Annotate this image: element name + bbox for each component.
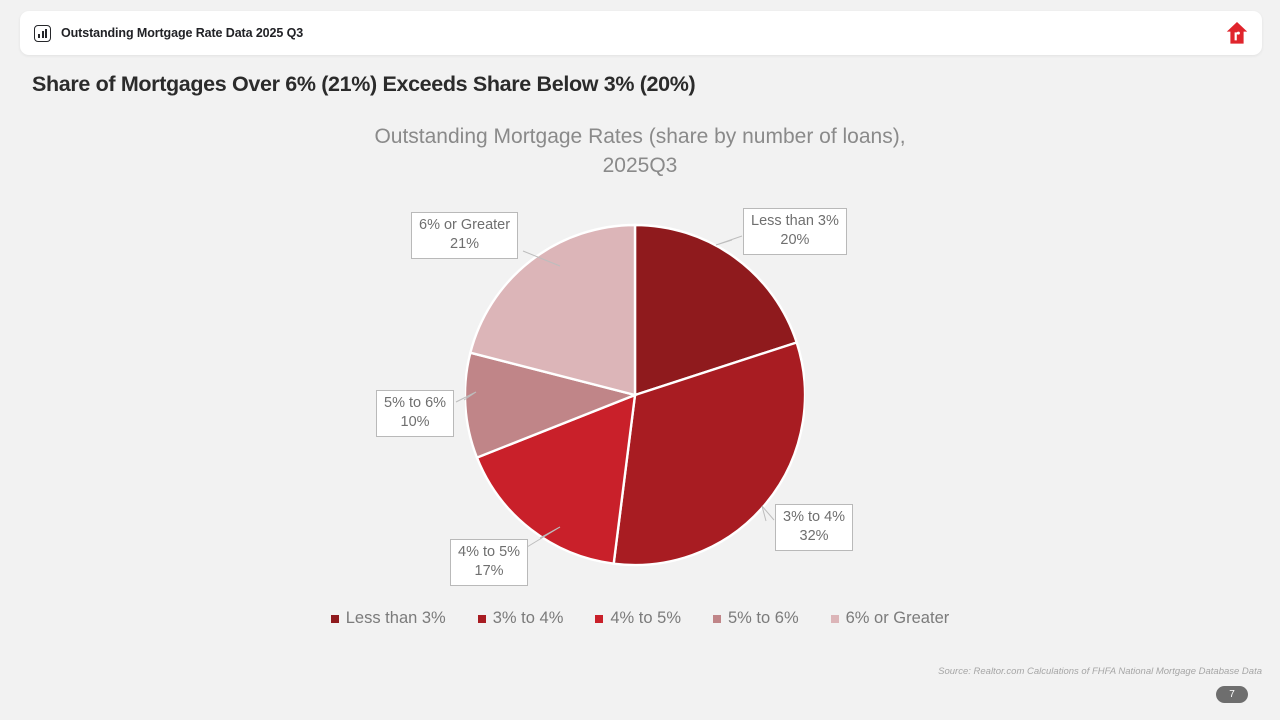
legend-swatch	[331, 615, 339, 623]
source-note: Source: Realtor.com Calculations of FHFA…	[938, 666, 1262, 677]
pie-label-value: 17%	[458, 562, 520, 581]
legend-label: 5% to 6%	[728, 609, 799, 628]
pie-chart	[465, 222, 805, 568]
legend-swatch	[713, 615, 721, 623]
legend-swatch	[478, 615, 486, 623]
pie-label-less-than-3: Less than 3% 20%	[743, 208, 847, 255]
header-brand	[1226, 21, 1248, 45]
chart-title-line-1: Outstanding Mortgage Rates (share by num…	[374, 125, 905, 148]
realtor-house-logo-icon	[1226, 21, 1248, 45]
pie-label-3-to-4: 3% to 4% 32%	[775, 504, 853, 551]
pie-label-value: 20%	[751, 231, 839, 250]
pie-label-4-to-5: 4% to 5% 17%	[450, 539, 528, 586]
legend-label: Less than 3%	[346, 609, 446, 628]
header-title-group: Outstanding Mortgage Rate Data 2025 Q3	[34, 25, 303, 42]
legend-item[interactable]: Less than 3%	[331, 609, 446, 628]
legend-item[interactable]: 4% to 5%	[595, 609, 681, 628]
legend-label: 3% to 4%	[493, 609, 564, 628]
pie-label-category: 3% to 4%	[783, 509, 845, 525]
legend-item[interactable]: 6% or Greater	[831, 609, 950, 628]
pie-label-6-or-greater: 6% or Greater 21%	[411, 212, 518, 259]
pie-label-value: 10%	[384, 413, 446, 432]
legend-swatch	[831, 615, 839, 623]
chart-title-line-2: 2025Q3	[603, 154, 678, 177]
legend-label: 6% or Greater	[846, 609, 950, 628]
app-header-bar: Outstanding Mortgage Rate Data 2025 Q3	[20, 11, 1262, 55]
pie-chart-svg	[465, 222, 805, 568]
chart-title: Outstanding Mortgage Rates (share by num…	[290, 122, 990, 180]
pie-label-5-to-6: 5% to 6% 10%	[376, 390, 454, 437]
pie-label-category: 4% to 5%	[458, 544, 520, 560]
app-title: Outstanding Mortgage Rate Data 2025 Q3	[61, 26, 303, 40]
legend-swatch	[595, 615, 603, 623]
legend-item[interactable]: 3% to 4%	[478, 609, 564, 628]
pie-label-value: 21%	[419, 235, 510, 254]
pie-label-category: Less than 3%	[751, 213, 839, 229]
slide-canvas: Outstanding Mortgage Rate Data 2025 Q3 S…	[0, 0, 1280, 720]
bar-chart-icon	[34, 25, 51, 42]
pie-label-category: 5% to 6%	[384, 395, 446, 411]
legend-label: 4% to 5%	[610, 609, 681, 628]
legend-item[interactable]: 5% to 6%	[713, 609, 799, 628]
chart-legend: Less than 3%3% to 4%4% to 5%5% to 6%6% o…	[0, 609, 1280, 628]
pie-slice-group	[465, 225, 805, 565]
pie-label-category: 6% or Greater	[419, 217, 510, 233]
page-title: Share of Mortgages Over 6% (21%) Exceeds…	[32, 72, 695, 97]
page-number-badge: 7	[1216, 686, 1248, 703]
pie-label-value: 32%	[783, 527, 845, 546]
